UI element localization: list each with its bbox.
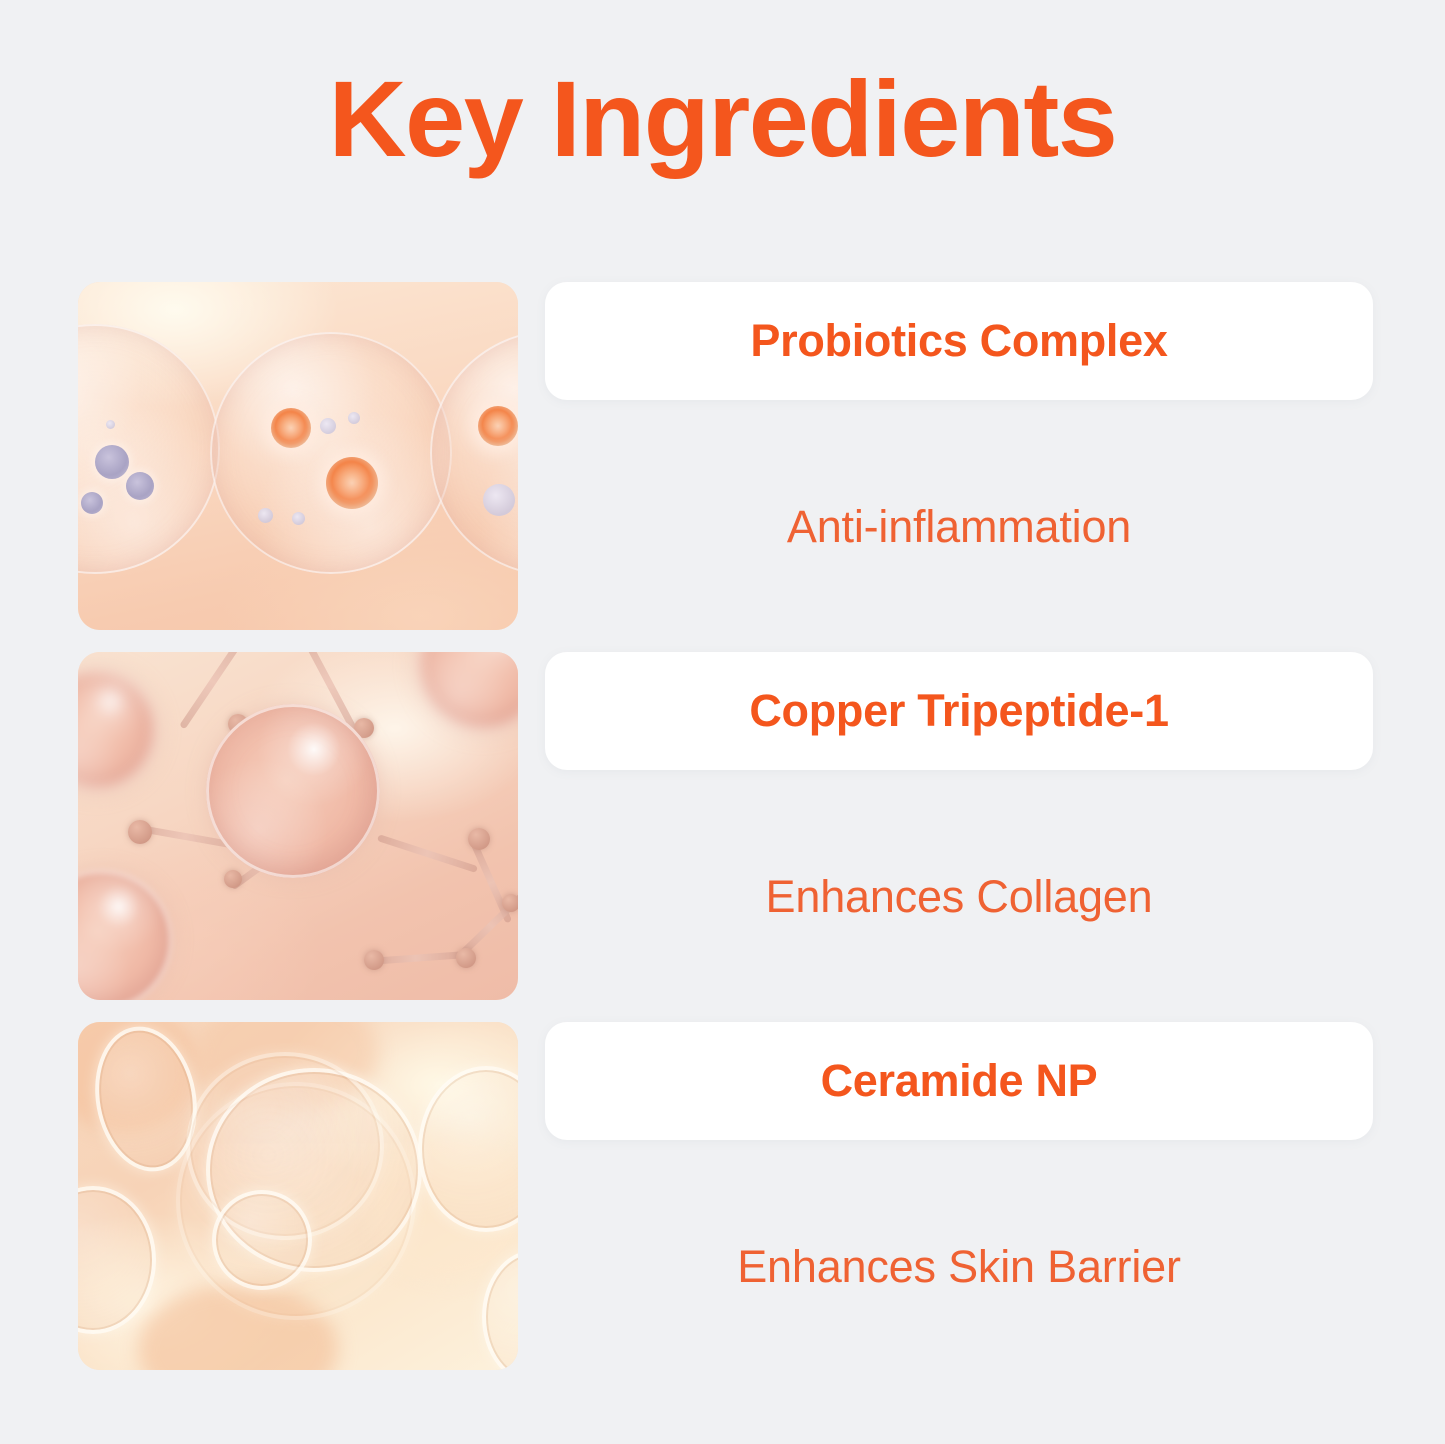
ingredient-image-copper-tripeptide <box>78 652 518 1000</box>
ingredient-row: Copper Tripeptide-1 Enhances Collagen <box>0 652 1445 1024</box>
ingredient-name: Copper Tripeptide-1 <box>749 685 1168 737</box>
ingredient-info-copper-tripeptide: Copper Tripeptide-1 Enhances Collagen <box>545 652 1373 1024</box>
molecule-lattice-art <box>78 652 518 1000</box>
ingredient-benefit: Anti-inflammation <box>787 501 1131 553</box>
bubble-rings-art <box>78 1022 518 1370</box>
ingredient-benefit: Enhances Skin Barrier <box>737 1241 1181 1293</box>
ingredient-benefit-row: Enhances Collagen <box>545 770 1373 1024</box>
ingredient-row: Ceramide NP Enhances Skin Barrier <box>0 1022 1445 1394</box>
ingredient-benefit: Enhances Collagen <box>766 871 1153 923</box>
ingredient-info-probiotics: Probiotics Complex Anti-inflammation <box>545 282 1373 654</box>
ingredient-name-card[interactable]: Ceramide NP <box>545 1022 1373 1140</box>
probiotic-bubbles-art <box>78 282 518 630</box>
page-title: Key Ingredients <box>0 62 1445 175</box>
key-ingredients-page: Key Ingredients <box>0 0 1445 1444</box>
ingredient-info-ceramide: Ceramide NP Enhances Skin Barrier <box>545 1022 1373 1394</box>
ingredient-benefit-row: Anti-inflammation <box>545 400 1373 654</box>
ingredient-name-card[interactable]: Probiotics Complex <box>545 282 1373 400</box>
ingredient-row: Probiotics Complex Anti-inflammation <box>0 282 1445 654</box>
ingredient-name: Ceramide NP <box>821 1055 1098 1107</box>
ingredient-name-card[interactable]: Copper Tripeptide-1 <box>545 652 1373 770</box>
ingredient-name: Probiotics Complex <box>750 315 1167 367</box>
ingredient-benefit-row: Enhances Skin Barrier <box>545 1140 1373 1394</box>
ingredient-image-ceramide <box>78 1022 518 1370</box>
ingredient-image-probiotics <box>78 282 518 630</box>
